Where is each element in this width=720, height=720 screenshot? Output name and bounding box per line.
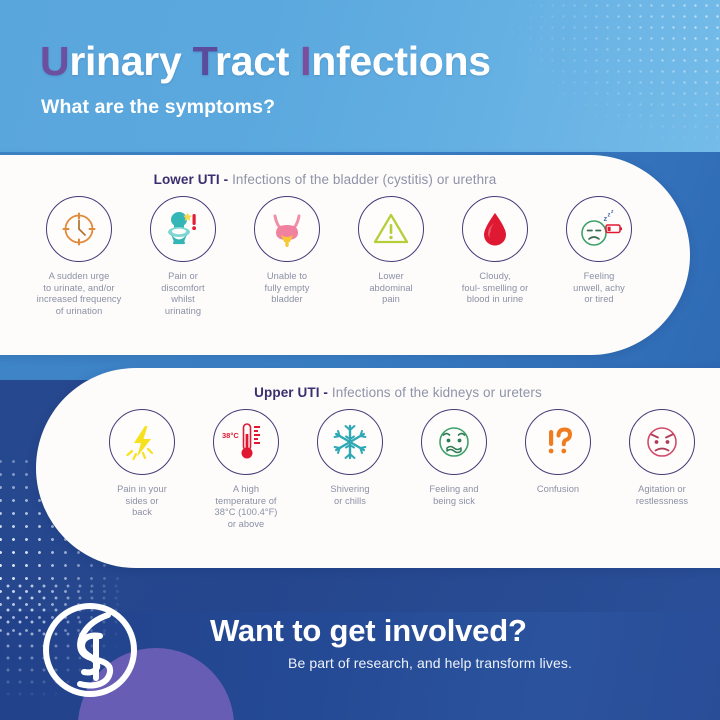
nauseous-face-icon [421,409,487,475]
symptom-caption: Lower abdominal pain [369,271,412,306]
sf-monogram-logo [36,596,144,704]
snowflake-icon [317,409,383,475]
symptom-caption: Feeling and being sick [429,484,478,507]
upper-uti-heading-dash: - [320,385,332,400]
upper-uti-panel: Upper UTI - Infections of the kidneys or… [36,368,720,568]
svg-text:z: z [611,209,614,215]
bladder-icon [254,196,320,262]
angry-face-icon [629,409,695,475]
symptom-caption: Shivering or chills [330,484,369,507]
lower-uti-heading: Lower UTI - Infections of the bladder (c… [0,155,690,187]
symptom-caption: Unable to fully empty bladder [265,271,310,306]
symptom-caption: Pain or discomfort whilst urinating [161,271,204,317]
infographic-poster: Urinary Tract Infections What are the sy… [0,0,720,720]
title-letter-i: I [300,38,311,84]
lightning-bolt-icon [109,409,175,475]
page-title: Urinary Tract Infections [40,38,491,85]
lower-uti-heading-dash: - [220,172,232,187]
upper-uti-symptom-row: Pain in your sides or back 38°C [36,409,720,530]
lower-uti-heading-rest: Infections of the bladder (cystitis) or … [232,172,496,187]
header-dot-pattern [470,0,720,152]
symptom-item[interactable]: Agitation or restlessness [610,409,714,507]
title-letter-u: U [40,38,69,84]
footer-title: Want to get involved? [210,613,527,649]
lower-uti-heading-bold: Lower UTI [154,172,220,187]
symptom-item[interactable]: Shivering or chills [298,409,402,507]
title-word-rinary: rinary [69,38,192,84]
upper-uti-heading-rest: Infections of the kidneys or ureters [332,385,542,400]
title-word-ract: ract [215,38,300,84]
symptom-item[interactable]: Cloudy, foul- smelling or blood in urine [443,196,547,306]
thermometer-icon: 38°C [213,409,279,475]
page-subtitle: What are the symptoms? [41,96,275,119]
title-letter-t: T [193,38,215,84]
upper-uti-heading-bold: Upper UTI [254,385,319,400]
title-word-nfections: nfections [311,38,491,84]
symptom-item[interactable]: z z z Feeling unwell, achy or tired [547,196,651,306]
symptom-item[interactable]: 38°C A high temperature of 38°C [194,409,298,530]
toilet-icon [150,196,216,262]
symptom-caption: Cloudy, foul- smelling or blood in urine [462,271,528,306]
symptom-item[interactable]: Pain in your sides or back [90,409,194,519]
lower-uti-panel: Lower UTI - Infections of the bladder (c… [0,155,690,355]
symptom-caption: Pain in your sides or back [117,484,167,519]
exclamation-question-icon [525,409,591,475]
warning-triangle-icon [358,196,424,262]
symptom-caption: A high temperature of 38°C (100.4°F) or … [215,484,278,530]
tired-face-icon: z z z [566,196,632,262]
symptom-item[interactable]: Confusion [506,409,610,496]
symptom-item[interactable]: Unable to fully empty bladder [235,196,339,306]
symptom-caption: Feeling unwell, achy or tired [573,271,625,306]
footer-subtitle: Be part of research, and help transform … [288,655,572,671]
symptom-caption: Confusion [537,484,579,496]
symptom-item[interactable]: Lower abdominal pain [339,196,443,306]
symptom-caption: A sudden urge to urinate, and/or increas… [37,271,122,317]
symptom-item[interactable]: Feeling and being sick [402,409,506,507]
blood-drop-icon [462,196,528,262]
symptom-item[interactable]: Pain or discomfort whilst urinating [131,196,235,317]
thermometer-temp-label: 38°C [222,431,239,440]
symptom-item[interactable]: A sudden urge to urinate, and/or increas… [27,196,131,317]
clock-icon [46,196,112,262]
symptom-caption: Agitation or restlessness [636,484,688,507]
lower-uti-symptom-row: A sudden urge to urinate, and/or increas… [0,196,690,317]
upper-uti-heading: Upper UTI - Infections of the kidneys or… [36,368,720,400]
